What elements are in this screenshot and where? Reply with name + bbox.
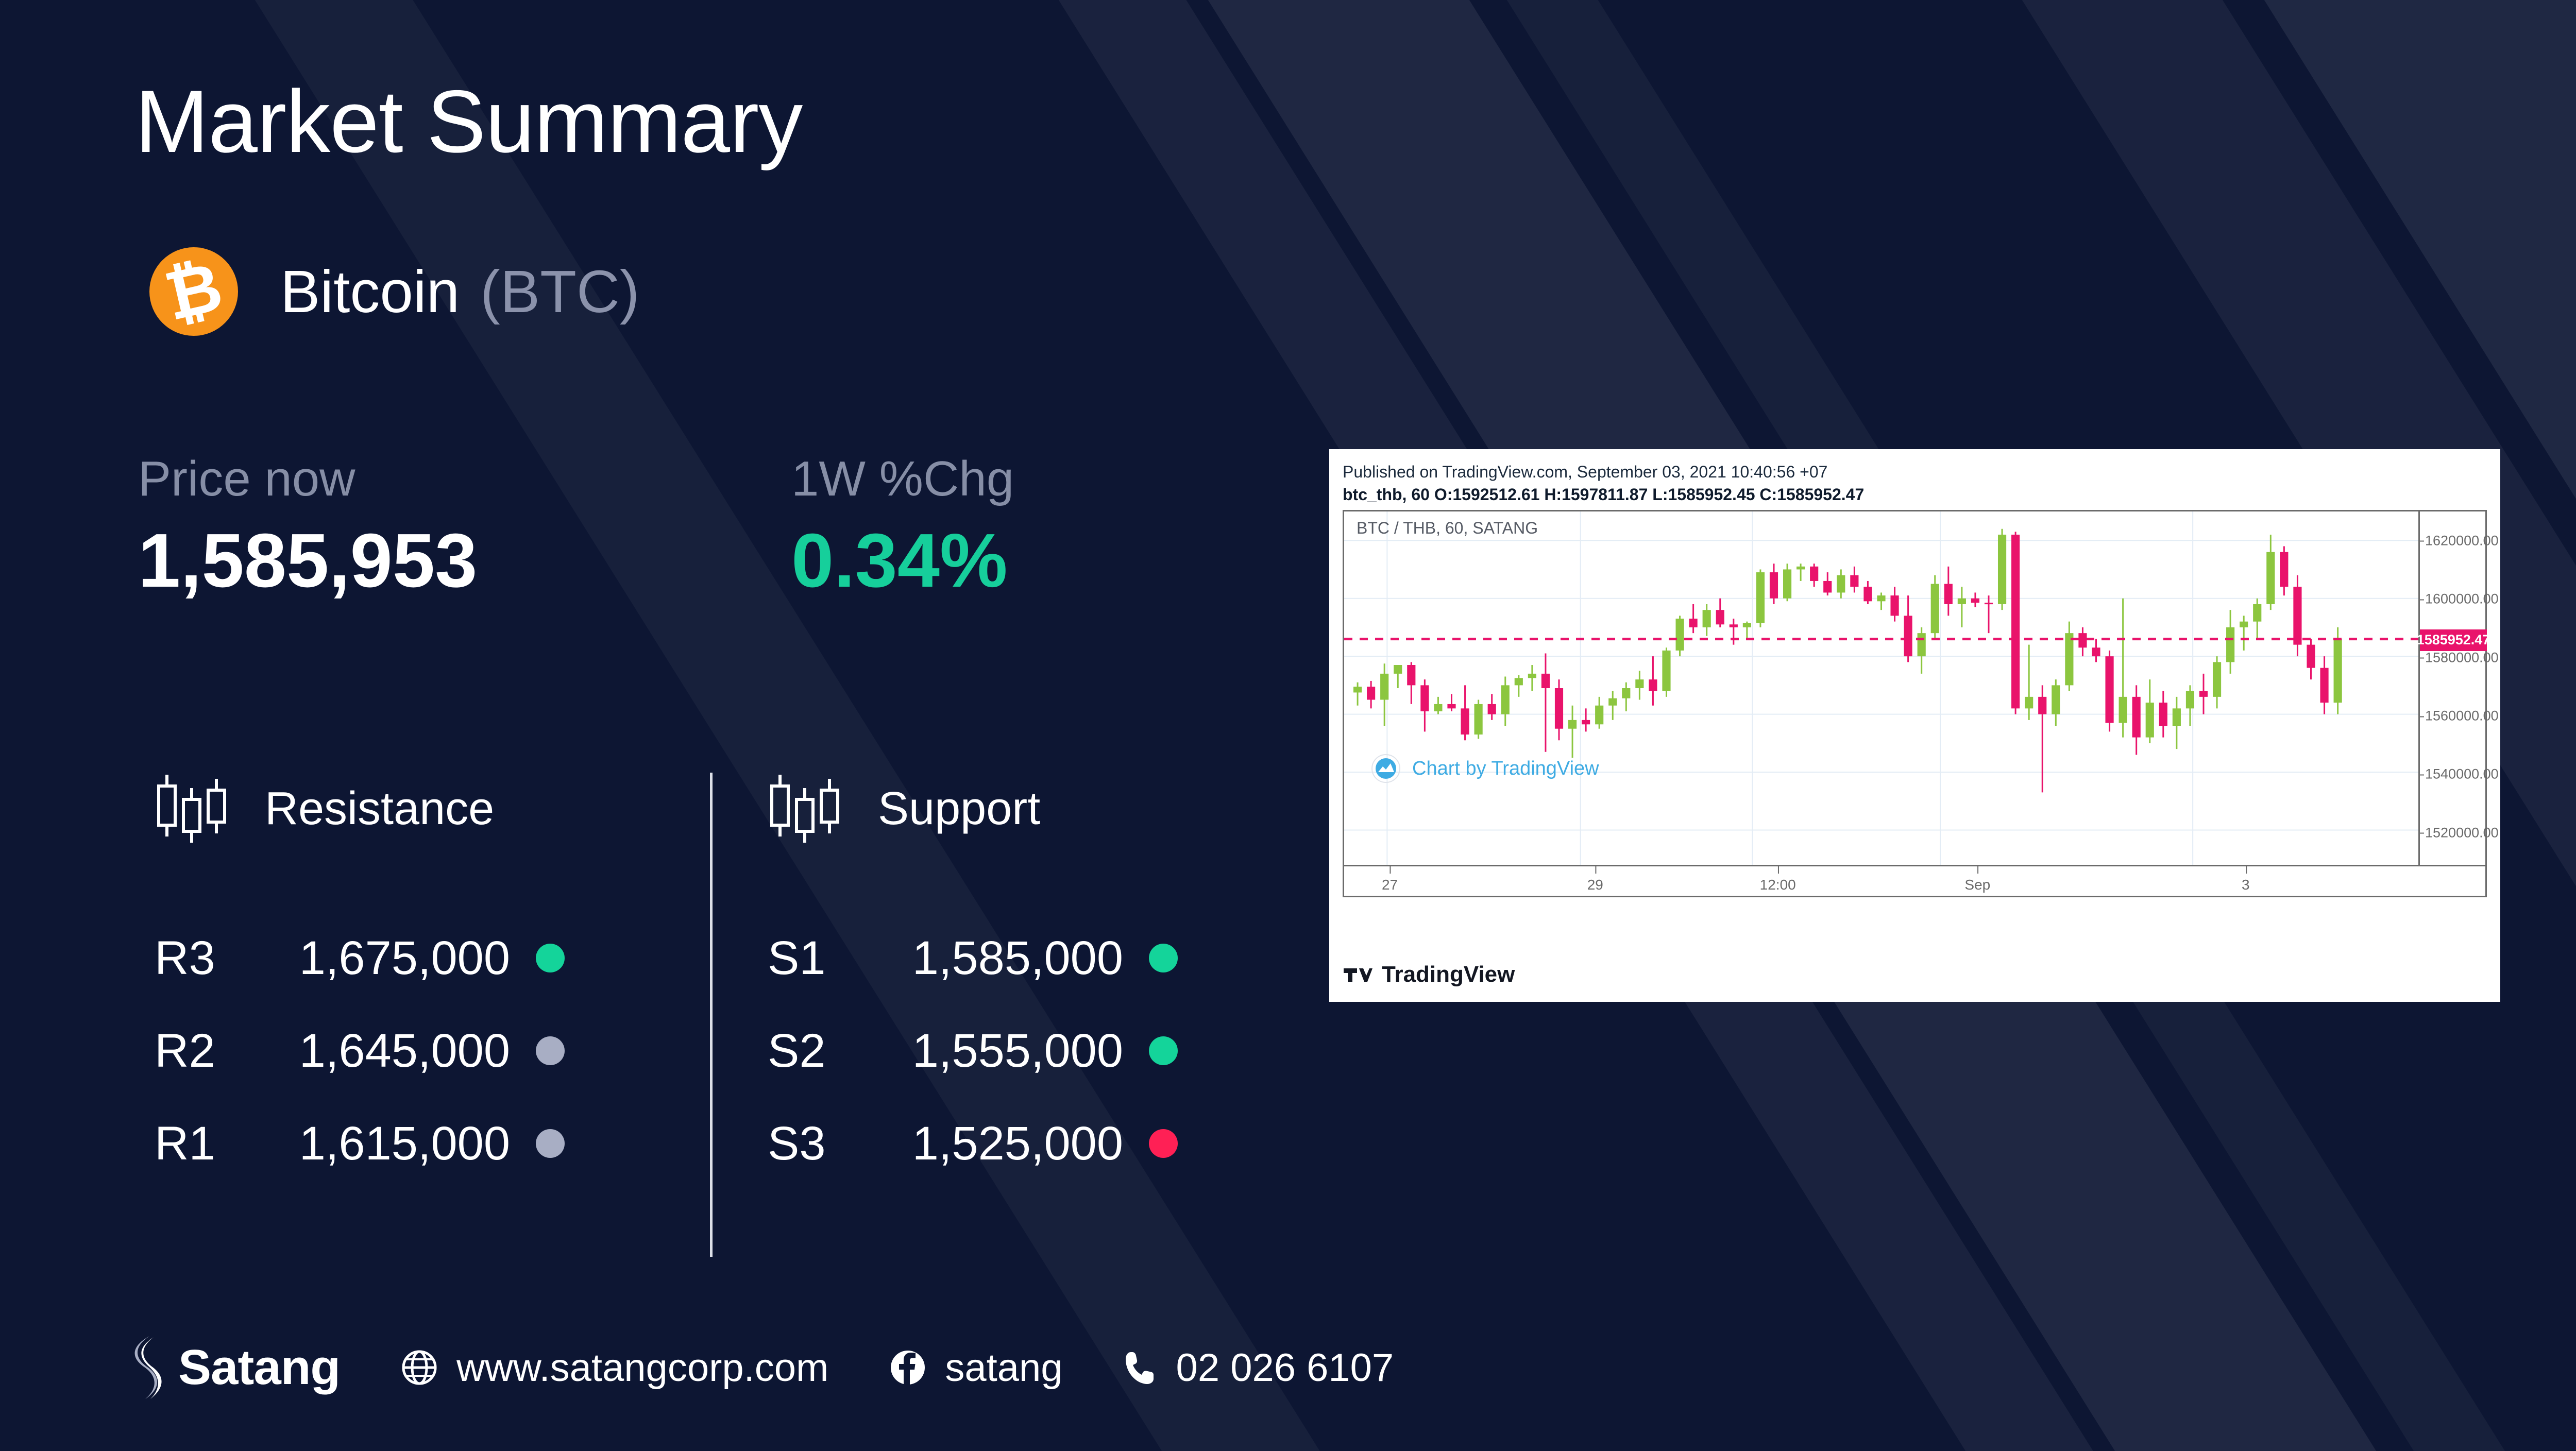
candle-body (1837, 575, 1845, 593)
satang-brand: Satang (127, 1335, 340, 1400)
candle-body (2293, 587, 2301, 644)
resistance-header: Resistance (155, 773, 565, 845)
candle-body (1703, 610, 1711, 627)
candle-body (1756, 572, 1765, 623)
candle-body (1770, 572, 1778, 599)
candle-body (1783, 569, 1791, 598)
candle-body (1608, 698, 1617, 706)
candle-body (2011, 535, 2020, 708)
time-tick-label: Sep (1964, 877, 1990, 893)
ohlc-line: btc_thb, 60 O:1592512.61 H:1597811.87 L:… (1343, 485, 1864, 504)
candle-body (2119, 697, 2127, 723)
candle-body (1515, 678, 1523, 685)
current-price-badge: 1585952.47 (2420, 629, 2487, 651)
footer-facebook[interactable]: satang (889, 1345, 1062, 1390)
candle-body (2280, 552, 2288, 587)
candle-body (1675, 619, 1684, 651)
bitcoin-glyph: ₿ (141, 238, 247, 345)
table-row: R2 1,645,000 (155, 1004, 565, 1097)
table-row: S2 1,555,000 (768, 1004, 1178, 1097)
candle-body (2253, 604, 2261, 622)
coin-header: ₿ Bitcoin (BTC) (149, 247, 639, 336)
watermark-text: Chart by TradingView (1412, 758, 1599, 780)
candle-body (2038, 697, 2046, 714)
candle-body (1582, 720, 1590, 724)
stat-price-now: Price now 1,585,953 (138, 453, 477, 601)
candle-body (1944, 584, 1953, 604)
status-dot (1149, 944, 1178, 972)
status-dot (536, 1036, 565, 1065)
price-axis: 1620000.001600000.001580000.001560000.00… (2418, 511, 2485, 865)
stat-week-change: 1W %Chg 0.34% (791, 453, 1014, 601)
candle-body (1394, 665, 1402, 674)
candle-body (2213, 662, 2221, 696)
status-dot (536, 944, 565, 972)
table-row: R1 1,615,000 (155, 1097, 565, 1190)
candle-body (1434, 704, 1442, 711)
candle-body (1730, 624, 1738, 627)
candle-body (1797, 567, 1805, 570)
stat-value: 1,585,953 (138, 521, 477, 601)
levels-divider (710, 773, 713, 1257)
level-key: R1 (155, 1117, 263, 1171)
support-title: Support (878, 782, 1040, 835)
candle-body (1931, 584, 1939, 634)
candlestick-plot (1344, 511, 2418, 865)
table-row: S1 1,585,000 (768, 912, 1178, 1004)
time-tick-label: 29 (1587, 877, 1603, 893)
price-tick-label: 1520000.00 (2425, 825, 2499, 841)
coin-name: Bitcoin (280, 257, 460, 326)
satang-brand-text: Satang (178, 1339, 340, 1396)
candle-body (2159, 703, 2167, 726)
time-tick-label: 12:00 (1760, 877, 1796, 893)
coin-ticker: (BTC) (480, 257, 639, 326)
support-rows: S1 1,585,000 S2 1,555,000 S3 1,525,000 (768, 912, 1178, 1190)
candle-body (1635, 679, 1643, 688)
phone-text: 02 026 6107 (1176, 1345, 1394, 1390)
candle-body (1985, 603, 1993, 604)
candle-body (2199, 691, 2208, 697)
candle-body (1367, 687, 1375, 699)
facebook-icon (889, 1349, 926, 1386)
candle-body (2065, 633, 2073, 685)
candle-body (1555, 688, 1563, 729)
candle-body (1541, 674, 1550, 688)
candle-body (2092, 647, 2100, 656)
level-value: 1,675,000 (263, 931, 510, 985)
candle-body (2334, 639, 2342, 703)
candle-body (2173, 708, 2181, 726)
table-row: S3 1,525,000 (768, 1097, 1178, 1190)
level-value: 1,585,000 (876, 931, 1123, 985)
candle-body (1998, 535, 2006, 604)
candle-body (2307, 645, 2315, 668)
candle-body (1488, 704, 1496, 714)
website-text: www.satangcorp.com (456, 1345, 828, 1390)
status-dot (1149, 1036, 1178, 1065)
tradingview-watermark: Chart by TradingView (1371, 754, 1599, 783)
candle-body (1420, 685, 1429, 711)
chart-area: BTC / THB, 60, SATANG Chart by TradingVi… (1343, 510, 2487, 897)
level-key: R3 (155, 931, 263, 985)
candle-body (2025, 697, 2033, 708)
price-tick-label: 1620000.00 (2425, 533, 2499, 549)
candle-body (1877, 595, 1885, 601)
candle-body (1461, 708, 1469, 735)
phone-icon (1124, 1349, 1158, 1386)
level-key: R2 (155, 1024, 263, 1078)
candle-body (1958, 599, 1966, 604)
resistance-group: Resistance R3 1,675,000 R2 1,645,000 R1 … (155, 773, 565, 1190)
satang-logo-icon (127, 1335, 168, 1400)
support-header: Support (768, 773, 1178, 845)
summary-panel: Market Summary ₿ Bitcoin (BTC) Price now… (0, 0, 1319, 1319)
candle-body (2240, 622, 2248, 627)
status-dot (1149, 1129, 1178, 1158)
tradingview-brand-icon (1344, 964, 1372, 985)
candle-body (1501, 685, 1510, 714)
published-line: Published on TradingView.com, September … (1343, 463, 1827, 482)
candle-body (2146, 703, 2154, 737)
globe-icon (401, 1349, 438, 1386)
candle-body (1447, 704, 1455, 708)
candle-body (1528, 674, 1536, 678)
resistance-title: Resistance (265, 782, 494, 835)
page-title: Market Summary (135, 77, 802, 166)
candle-body (2052, 685, 2060, 714)
price-tick-label: 1540000.00 (2425, 766, 2499, 782)
candle-body (1918, 633, 1926, 656)
stat-label: Price now (138, 453, 477, 505)
chart-symbol-label: BTC / THB, 60, SATANG (1357, 519, 1538, 538)
support-group: Support S1 1,585,000 S2 1,555,000 S3 1,5… (768, 773, 1178, 1190)
time-tick-label: 3 (2242, 877, 2250, 893)
candlestick-icon (155, 773, 237, 845)
footer-bar: Satang www.satangcorp.com satang (127, 1335, 1394, 1400)
level-key: S2 (768, 1024, 876, 1078)
candle-body (1716, 610, 1724, 624)
bitcoin-icon: ₿ (149, 247, 238, 336)
stat-label: 1W %Chg (791, 453, 1014, 505)
tradingview-chart-panel: Published on TradingView.com, September … (1329, 449, 2500, 1002)
candle-body (2320, 668, 2328, 703)
level-value: 1,615,000 (263, 1117, 510, 1171)
candle-body (1823, 581, 1832, 592)
candle-body (1595, 706, 1603, 725)
candle-body (1622, 688, 1630, 698)
level-value: 1,645,000 (263, 1024, 510, 1078)
candle-body (1850, 575, 1858, 587)
candle-body (2186, 691, 2194, 709)
resistance-rows: R3 1,675,000 R2 1,645,000 R1 1,615,000 (155, 912, 565, 1190)
candle-body (1568, 720, 1577, 729)
candle-body (1407, 665, 1415, 685)
candle-body (2132, 697, 2141, 738)
time-tick-label: 27 (1382, 877, 1398, 893)
status-dot (536, 1129, 565, 1158)
candle-body (1904, 616, 1912, 656)
footer-website[interactable]: www.satangcorp.com (401, 1345, 828, 1390)
price-tick-label: 1600000.00 (2425, 591, 2499, 607)
table-row: R3 1,675,000 (155, 912, 565, 1004)
tradingview-footer: TradingView (1344, 962, 1515, 987)
candle-body (2105, 656, 2113, 723)
tradingview-logo-icon (1371, 754, 1401, 783)
candle-body (2078, 633, 2087, 647)
time-axis: 272912:00Sep3 (1344, 865, 2485, 896)
candlestick-svg (1344, 511, 2418, 865)
candle-body (2226, 627, 2234, 662)
level-value: 1,525,000 (876, 1117, 1123, 1171)
stat-value: 0.34% (791, 521, 1014, 601)
facebook-text: satang (945, 1345, 1062, 1390)
candle-body (1971, 599, 1979, 603)
tradingview-brand-text: TradingView (1382, 962, 1515, 987)
candle-body (1475, 704, 1483, 735)
candle-body (1380, 674, 1388, 700)
candle-body (1890, 595, 1899, 616)
candle-body (1810, 567, 1818, 581)
level-key: S1 (768, 931, 876, 985)
candlestick-icon (768, 773, 850, 845)
candle-body (1689, 619, 1698, 627)
level-key: S3 (768, 1117, 876, 1171)
level-value: 1,555,000 (876, 1024, 1123, 1078)
candle-body (1662, 651, 1670, 691)
footer-phone[interactable]: 02 026 6107 (1124, 1345, 1394, 1390)
candle-body (1353, 687, 1362, 692)
price-tick-label: 1560000.00 (2425, 708, 2499, 724)
candle-body (2266, 552, 2275, 604)
candle-body (1649, 679, 1657, 691)
candle-body (1863, 587, 1872, 601)
candle-body (1743, 623, 1751, 627)
price-tick-label: 1580000.00 (2425, 650, 2499, 665)
